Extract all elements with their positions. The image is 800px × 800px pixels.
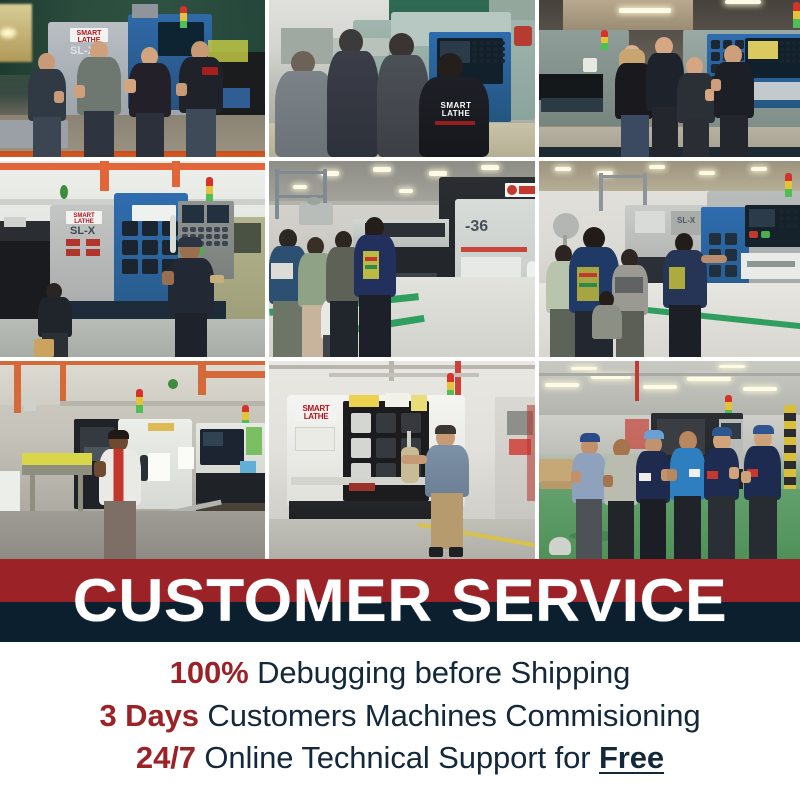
page-title: CUSTOMER SERVICE [0, 559, 800, 642]
photo-bottom-right [539, 361, 800, 559]
claim-line-3: 24/7 Online Technical Support for Free [136, 740, 664, 777]
claim-line-2: 3 Days Customers Machines Commisioning [100, 698, 701, 735]
claim-line-1: 100% Debugging before Shipping [170, 655, 631, 692]
claim-2-highlight: 3 Days [100, 698, 199, 733]
claim-1-highlight: 100% [170, 655, 249, 690]
photo-bottom-center: SMARTLATHE [269, 361, 535, 559]
photo-top-center: SMARTLATHE [269, 0, 535, 157]
photo-grid: SMART LATHE SL-X [0, 0, 800, 559]
photo-middle-center: -36 [269, 161, 535, 357]
photo-top-right [539, 0, 800, 157]
photo-bottom-left [0, 361, 265, 559]
photo-middle-left: SMART LATHE SL-X [0, 161, 265, 357]
photo-top-left: SMART LATHE SL-X [0, 0, 265, 157]
photo-middle-right: SL-X [539, 161, 800, 357]
claims-list: 100% Debugging before Shipping 3 Days Cu… [0, 646, 800, 800]
claim-1-text: Debugging before Shipping [249, 655, 631, 690]
claim-3-text: Online Technical Support for [196, 740, 599, 775]
customer-service-poster: SMART LATHE SL-X [0, 0, 800, 800]
claim-3-emphasis: Free [599, 740, 664, 775]
claim-3-highlight: 24/7 [136, 740, 196, 775]
claim-2-text: Customers Machines Commisioning [199, 698, 701, 733]
